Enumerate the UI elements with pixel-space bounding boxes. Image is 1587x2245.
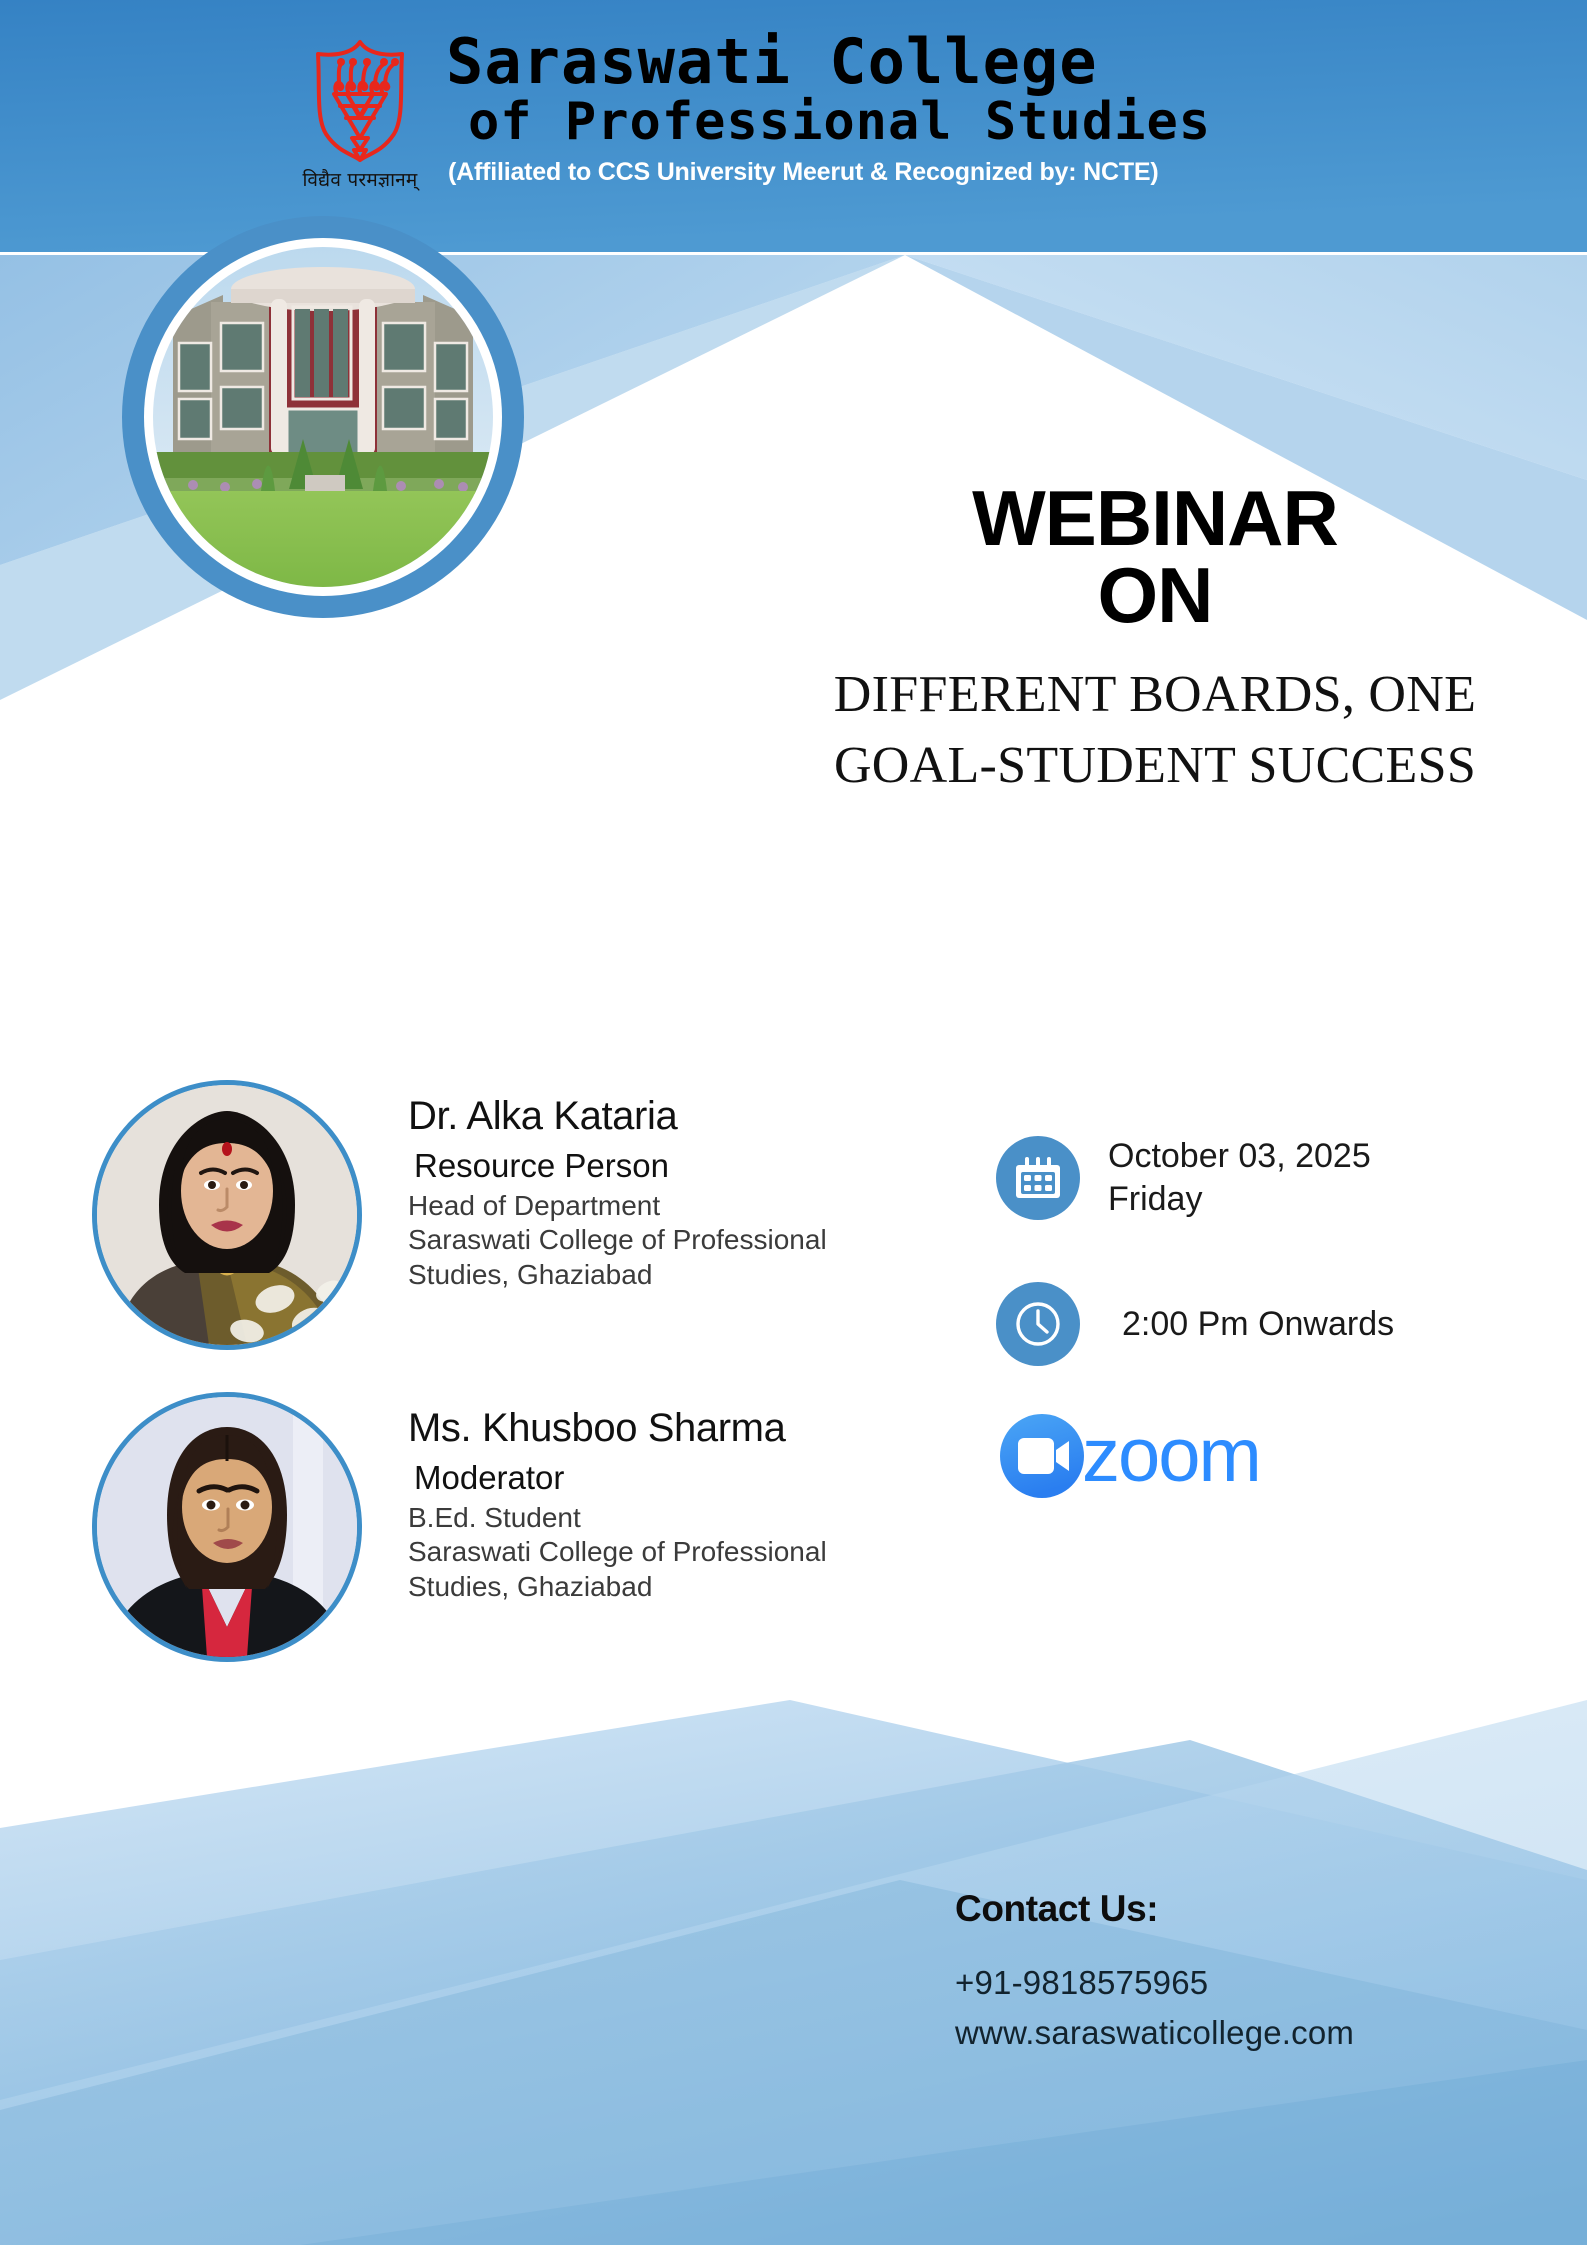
campus-building-photo [153, 247, 493, 587]
speaker-details: Dr. Alka Kataria Resource Person Head of… [408, 1080, 827, 1292]
clock-icon [996, 1282, 1080, 1366]
zoom-wordmark: zoom [1082, 1418, 1260, 1494]
speaker-affiliation-line2: Saraswati College of Professional [408, 1223, 827, 1257]
college-logo: विद्यैव परमज्ञानम् [300, 36, 420, 192]
contact-section: Contact Us: +91-9818575965 www.saraswati… [955, 1888, 1354, 2052]
speaker-affiliation-line2: Saraswati College of Professional [408, 1535, 827, 1569]
speaker-name: Dr. Alka Kataria [408, 1094, 827, 1138]
college-name-line2: of Professional Studies [468, 93, 1211, 151]
speaker-affiliation-line3: Studies, Ghaziabad [408, 1258, 827, 1292]
webinar-on-word: ON [760, 555, 1550, 637]
speaker-affiliation-line1: B.Ed. Student [408, 1501, 827, 1535]
speaker-role: Resource Person [414, 1145, 827, 1186]
speaker-card: Ms. Khusboo Sharma Moderator B.Ed. Stude… [92, 1392, 827, 1662]
event-date-text: October 03, 2025 Friday [1108, 1135, 1371, 1220]
campus-photo-ring [122, 216, 524, 618]
event-date: October 03, 2025 [1108, 1135, 1371, 1178]
webinar-title-block: WEBINAR ON DIFFERENT BOARDS, ONE GOAL-ST… [760, 482, 1550, 801]
webinar-heading: WEBINAR [760, 482, 1550, 555]
avatar [92, 1080, 362, 1350]
speaker-details: Ms. Khusboo Sharma Moderator B.Ed. Stude… [408, 1392, 827, 1604]
contact-website[interactable]: www.saraswaticollege.com [955, 2014, 1354, 2052]
college-name-line1: Saraswati College [446, 30, 1098, 93]
webinar-topic: DIFFERENT BOARDS, ONE GOAL-STUDENT SUCCE… [760, 660, 1550, 800]
event-day: Friday [1108, 1178, 1371, 1221]
webinar-topic-line2: GOAL-STUDENT SUCCESS [760, 731, 1550, 801]
event-time-text: 2:00 Pm Onwards [1122, 1303, 1394, 1346]
campus-photo-ring-inner [144, 238, 502, 596]
avatar [92, 1392, 362, 1662]
college-motto: विद्यैव परमज्ञानम् [303, 166, 418, 192]
speaker-affiliation-line3: Studies, Ghaziabad [408, 1570, 827, 1604]
speaker-role: Moderator [414, 1457, 827, 1498]
speaker-card: Dr. Alka Kataria Resource Person Head of… [92, 1080, 827, 1350]
event-date-row: October 03, 2025 Friday [996, 1135, 1371, 1220]
zoom-video-camera-icon [996, 1410, 1088, 1502]
poster-header: विद्यैव परमज्ञानम् Saraswati College of … [0, 0, 1587, 248]
zoom-platform-logo: zoom [996, 1410, 1260, 1502]
event-time-row: 2:00 Pm Onwards [996, 1282, 1394, 1366]
saraswati-shield-logo-icon [306, 36, 414, 164]
speaker-name: Ms. Khusboo Sharma [408, 1406, 827, 1450]
contact-phone[interactable]: +91-9818575965 [955, 1964, 1354, 2002]
speaker-affiliation-line1: Head of Department [408, 1189, 827, 1223]
college-name-block: Saraswati College of Professional Studie… [446, 30, 1211, 187]
calendar-icon [996, 1136, 1080, 1220]
webinar-poster: विद्यैव परमज्ञानम् Saraswati College of … [0, 0, 1587, 2245]
webinar-topic-line1: DIFFERENT BOARDS, ONE [760, 660, 1550, 730]
college-affiliation: (Affiliated to CCS University Meerut & R… [448, 158, 1159, 187]
contact-title: Contact Us: [955, 1888, 1354, 1930]
